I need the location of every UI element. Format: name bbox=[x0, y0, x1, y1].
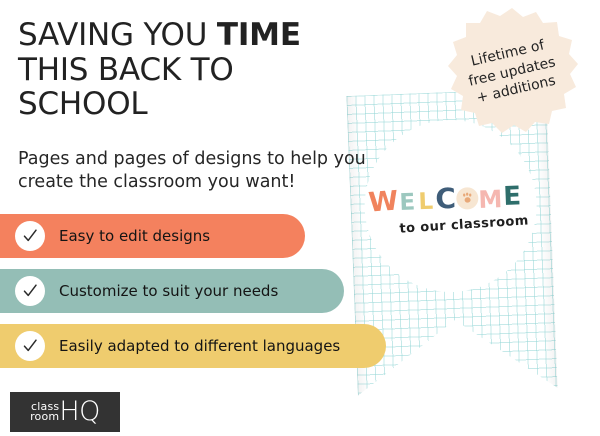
paw-print-icon bbox=[462, 192, 473, 204]
page-title: SAVING YOU TIME THIS BACK TO SCHOOL bbox=[18, 18, 368, 122]
lifetime-updates-badge: Lifetime of free updates + additions bbox=[446, 6, 578, 138]
feature-pill-label: Easily adapted to different languages bbox=[59, 337, 340, 355]
welcome-letter-e1: E bbox=[399, 191, 416, 215]
check-icon bbox=[15, 331, 45, 361]
page-subtitle: Pages and pages of designs to help you c… bbox=[18, 148, 366, 194]
welcome-subtitle: to our classroom bbox=[399, 213, 529, 236]
feature-pill: Easy to edit designs bbox=[0, 214, 305, 258]
headline-line2: THIS BACK TO bbox=[18, 52, 234, 88]
welcome-letter-l: L bbox=[418, 191, 434, 215]
classroomhq-logo: class room HQ bbox=[10, 392, 120, 432]
welcome-letter-m: M bbox=[478, 187, 503, 212]
feature-pill-label: Easy to edit designs bbox=[59, 227, 210, 245]
logo-mark-hq: HQ bbox=[59, 400, 100, 424]
welcome-letter-w: W bbox=[367, 188, 399, 217]
feature-pill-label: Customize to suit your needs bbox=[59, 282, 278, 300]
feature-pill: Customize to suit your needs bbox=[0, 269, 344, 313]
logo-word-room: room bbox=[30, 412, 59, 422]
check-icon bbox=[15, 276, 45, 306]
headline-line1-bold: TIME bbox=[217, 17, 301, 53]
headline-line1-normal: SAVING YOU bbox=[18, 17, 217, 53]
welcome-letter-c: C bbox=[435, 185, 457, 214]
poster-canvas: W E L C M E to our classroom Lifetime of… bbox=[0, 0, 600, 436]
welcome-letter-e2: E bbox=[503, 183, 522, 210]
welcome-wordmark: W E L C M E to our classroom bbox=[366, 177, 538, 243]
headline-line3: SCHOOL bbox=[18, 86, 148, 122]
logo-wordmark-stack: class room bbox=[30, 402, 59, 423]
check-icon bbox=[15, 221, 45, 251]
feature-pill: Easily adapted to different languages bbox=[0, 324, 386, 368]
